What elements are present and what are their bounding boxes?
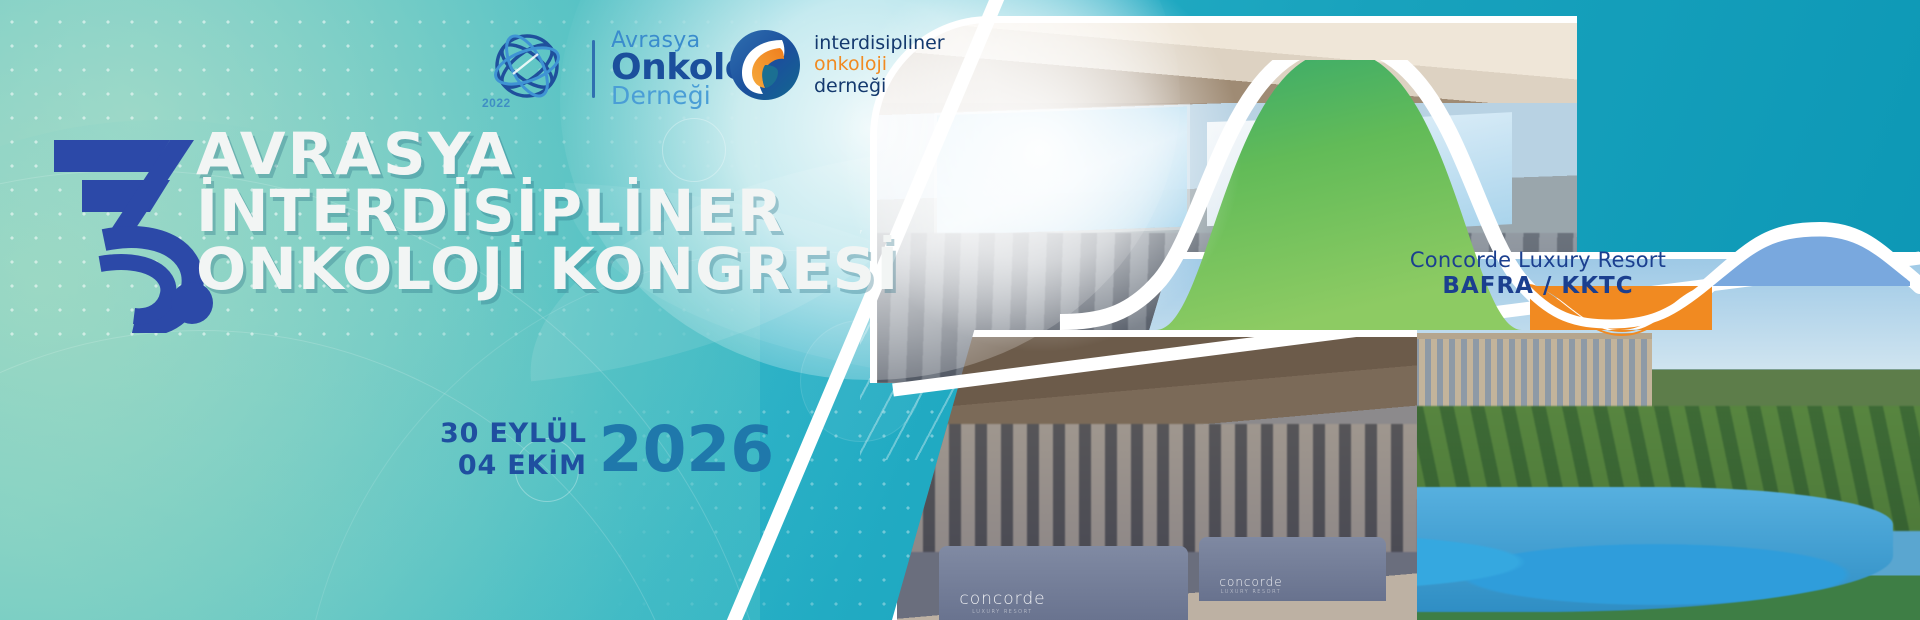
concorde-watermark-2: concorde LUXURY RESORT (1219, 575, 1282, 595)
congress-date: 30 EYLÜL 04 EKİM 2026 (440, 418, 774, 482)
title-line-3: ONKOLOJİ KONGRESİ (196, 241, 767, 298)
venue-name: Concorde Luxury Resort (1388, 248, 1688, 272)
swirl-circle-icon (728, 28, 802, 102)
logo2-word-dernegi: derneği (814, 76, 945, 98)
venue-location: BAFRA / KKTC (1388, 273, 1688, 299)
logo-year: 2022 (482, 96, 511, 110)
concorde-watermark-text: concorde (959, 589, 1045, 609)
concorde-watermark-1: concorde LUXURY RESORT (959, 589, 1045, 615)
title-line-2: İNTERDİSİPLİNER (196, 183, 767, 240)
logo-interdisipliner-onkoloji-dernegi[interactable]: interdisipliner onkoloji derneği (728, 28, 945, 102)
globe-sphere-icon: 2022 (480, 28, 576, 110)
logo2-wordmark: interdisipliner onkoloji derneği (814, 33, 945, 98)
logo2-word-interdisipliner: interdisipliner (814, 33, 945, 55)
date-start: 30 EYLÜL (440, 418, 587, 450)
title-line-1: AVRASYA (196, 126, 767, 183)
logo-divider (592, 40, 595, 98)
date-end: 04 EKİM (440, 450, 587, 482)
venue-label: Concorde Luxury Resort BAFRA / KKTC (1388, 248, 1688, 299)
audience-crowd (897, 424, 1417, 552)
date-days: 30 EYLÜL 04 EKİM (440, 418, 587, 482)
date-year: 2026 (599, 418, 774, 481)
concorde-watermark-sub-2: LUXURY RESORT (1219, 589, 1282, 595)
congress-banner: concorde LUXURY RESORT concorde LUXURY R… (0, 0, 1920, 620)
concorde-watermark-text-2: concorde (1219, 575, 1282, 589)
logo2-word-onkoloji: onkoloji (814, 54, 945, 76)
concorde-watermark-sub: LUXURY RESORT (959, 609, 1045, 615)
congress-title: AVRASYA İNTERDİSİPLİNER ONKOLOJİ KONGRES… (196, 126, 756, 298)
